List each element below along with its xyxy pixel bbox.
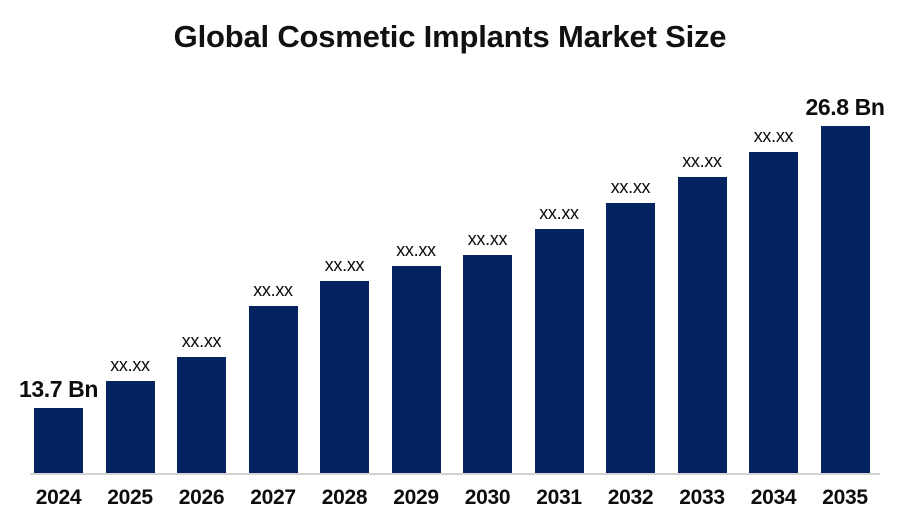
bar-2030 [463, 255, 512, 473]
bar-value-label-2024: 13.7 Bn [0, 376, 119, 403]
bar-2028 [320, 281, 369, 473]
bar-2034 [749, 152, 798, 473]
bar-value-label-2032: xx.xx [586, 177, 676, 198]
bar-value-label-2026: xx.xx [157, 331, 247, 352]
bar-2025 [106, 381, 155, 473]
bar-value-label-2033: xx.xx [657, 151, 747, 172]
bar-2033 [678, 177, 727, 473]
bar-2029 [392, 266, 441, 473]
x-axis-line [30, 473, 880, 475]
bar-value-label-2031: xx.xx [514, 203, 604, 224]
bar-2032 [606, 203, 655, 473]
category-label-2035: 2035 [800, 486, 890, 510]
bar-value-label-2025: xx.xx [85, 355, 175, 376]
bar-2024 [34, 408, 83, 473]
bar-value-label-2035: 26.8 Bn [785, 94, 900, 121]
chart-canvas: Global Cosmetic Implants Market Size 13.… [0, 0, 900, 525]
bar-2035 [821, 126, 870, 473]
bar-2027 [249, 306, 298, 473]
bar-value-label-2034: xx.xx [729, 126, 819, 147]
bar-value-label-2027: xx.xx [228, 280, 318, 301]
bar-value-label-2030: xx.xx [443, 229, 533, 250]
bar-2026 [177, 357, 226, 473]
plot-area: 13.7 Bnxx.xxxx.xxxx.xxxx.xxxx.xxxx.xxxx.… [0, 0, 900, 525]
bar-2031 [535, 229, 584, 473]
